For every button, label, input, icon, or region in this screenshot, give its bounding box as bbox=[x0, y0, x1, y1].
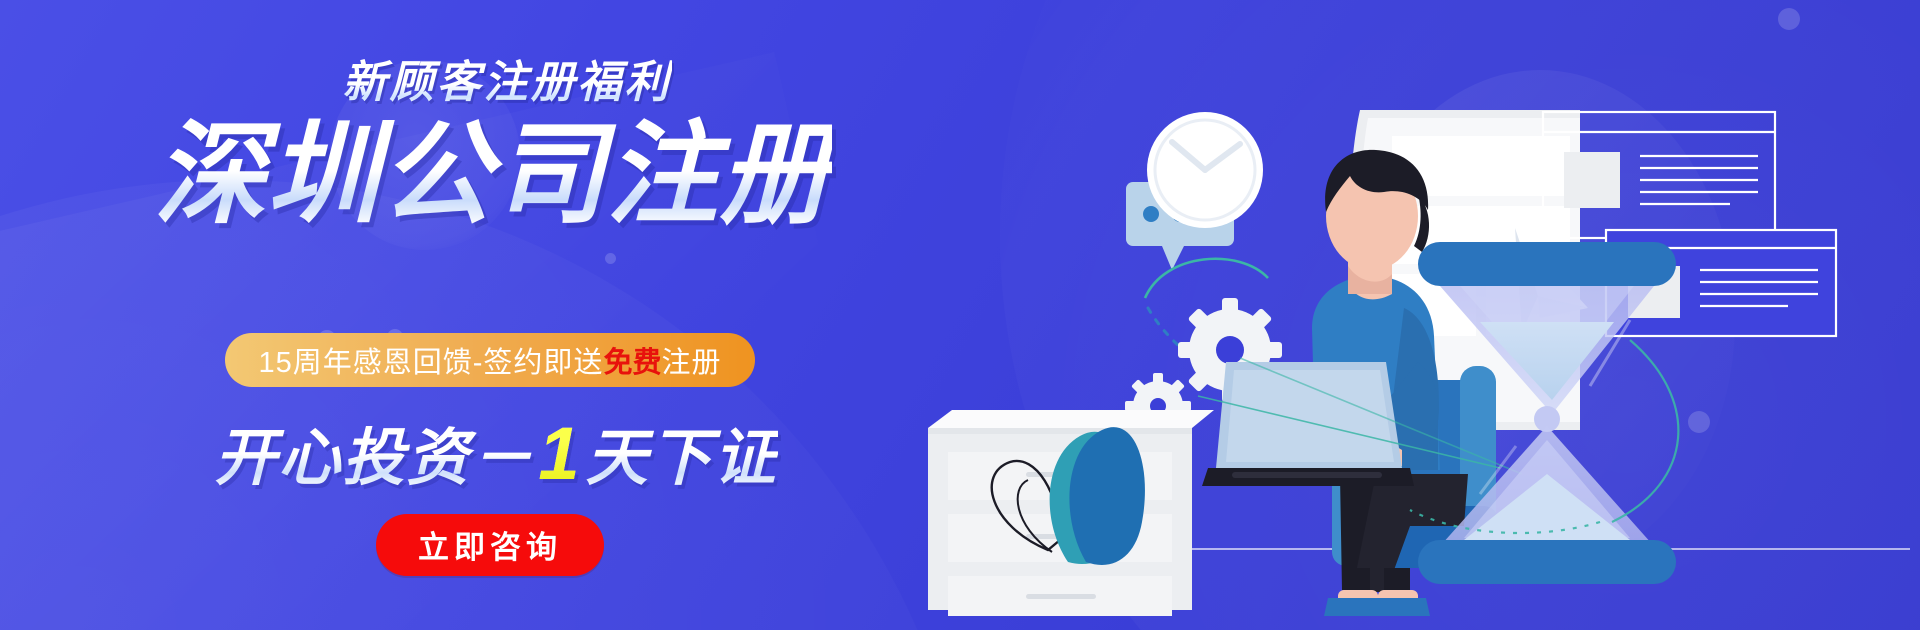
promo-badge-highlight: 免费 bbox=[603, 339, 661, 381]
tagline-prefix: 开心投资－ bbox=[214, 424, 534, 493]
promo-badge-suffix: 注册 bbox=[661, 339, 721, 381]
page-title: 深圳公司注册 bbox=[154, 115, 832, 236]
tagline-suffix: 天下证 bbox=[586, 424, 778, 493]
copy-block: 新顾客注册福利 深圳公司注册 15周年感恩回馈-签约即送免费注册 开心投资－1天… bbox=[0, 0, 980, 630]
promo-badge: 15周年感恩回馈-签约即送免费注册 bbox=[225, 333, 756, 387]
consult-now-button[interactable]: 立即咨询 bbox=[376, 514, 604, 576]
promo-badge-prefix: 15周年感恩回馈-签约即送 bbox=[259, 339, 604, 381]
analog-clock-icon bbox=[1147, 112, 1263, 228]
tagline: 开心投资－1天下证 bbox=[214, 413, 777, 494]
eyebrow-text: 新顾客注册福利 bbox=[343, 58, 672, 109]
decorative-dot bbox=[1778, 8, 1800, 30]
tagline-number: 1 bbox=[534, 412, 585, 495]
swoosh-curve-solid bbox=[1145, 259, 1268, 298]
promo-banner: 新顾客注册福利 深圳公司注册 15周年感恩回馈-签约即送免费注册 开心投资－1天… bbox=[0, 0, 1920, 630]
hero-illustration bbox=[940, 70, 1770, 570]
laptop bbox=[1202, 362, 1414, 486]
